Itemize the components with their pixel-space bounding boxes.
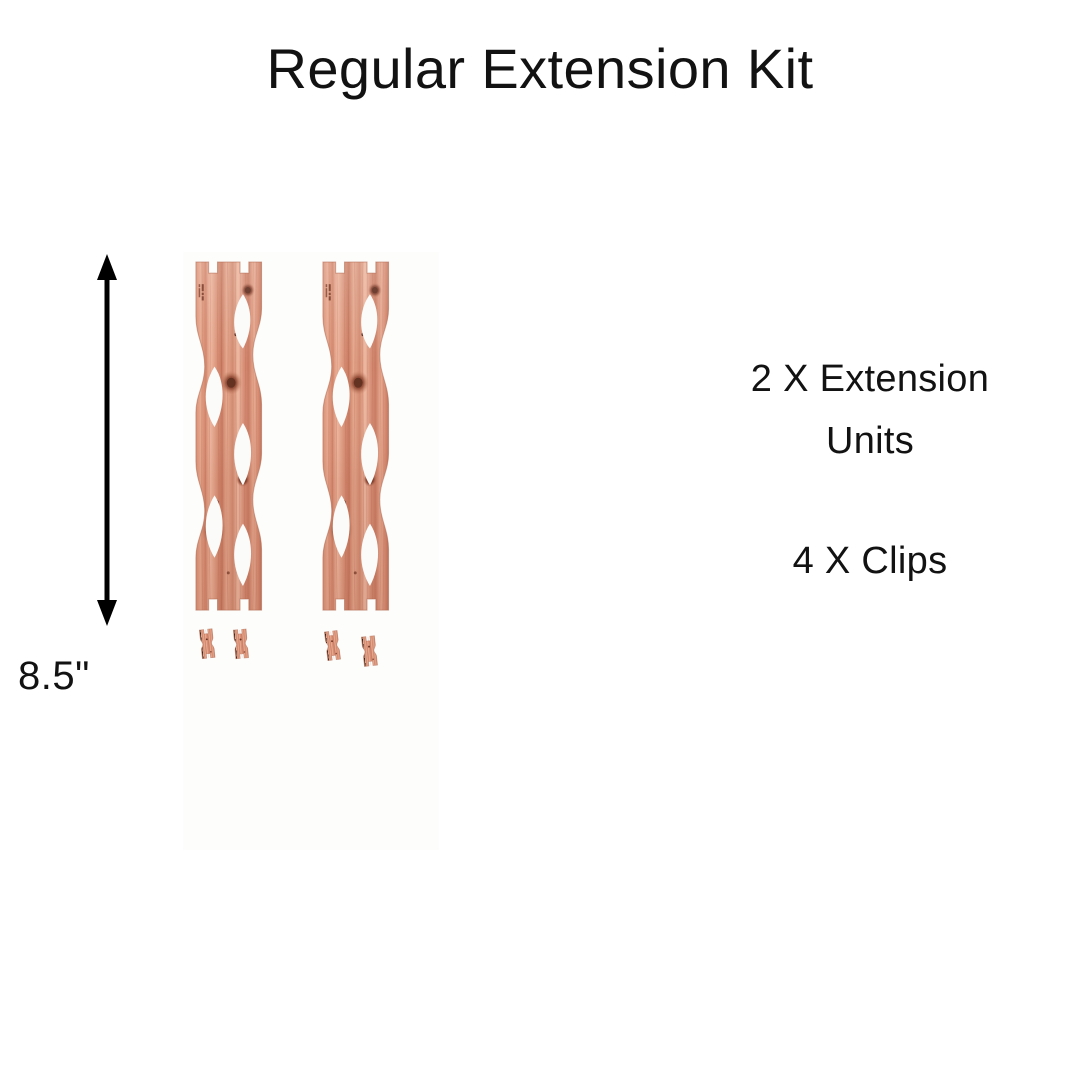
- contents-spacer: [700, 472, 1040, 530]
- product-photo-panel-2: [311, 252, 439, 850]
- page-title: Regular Extension Kit: [0, 36, 1080, 101]
- kit-contents-list: 2 X Extension Units 4 X Clips: [700, 348, 1040, 592]
- product-photo-panel-1: [183, 252, 311, 850]
- contents-item-clips: 4 X Clips: [700, 530, 1040, 592]
- vertical-double-arrow-icon: [0, 240, 160, 640]
- contents-item-extension-units-line1: 2 X Extension: [700, 348, 1040, 410]
- dimension-label: 8.5": [18, 654, 90, 699]
- contents-item-extension-units-line2: Units: [700, 410, 1040, 472]
- dimension-callout: 8.5": [0, 240, 160, 640]
